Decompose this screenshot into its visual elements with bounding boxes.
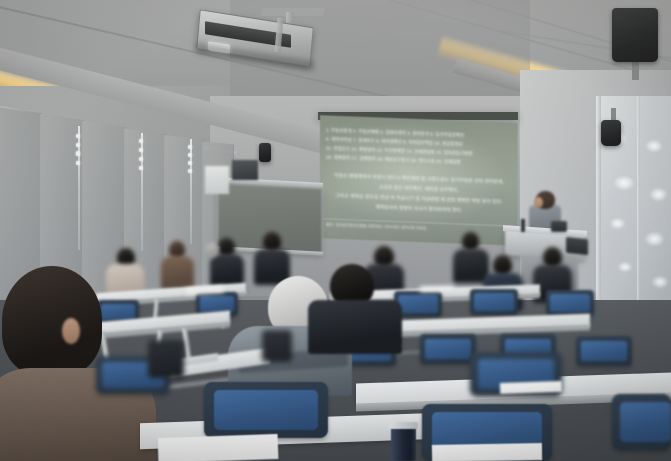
chair-pad [581,341,627,361]
speaker-bracket-mid-right [611,108,616,120]
paper-on-back-desk [420,286,454,293]
projector-mount-plate [260,8,325,16]
blind-bead [188,145,192,149]
blind-bead [76,151,80,155]
chair-pad [550,294,590,312]
bag-under-desk-2 [262,330,292,362]
lectern-microphone [521,219,525,232]
wall-notice-board [205,166,229,194]
chair-pad [398,295,438,313]
lectern-equipment [551,221,567,232]
blind-bead [188,169,192,173]
blind-bead [139,148,143,152]
speaker-rear-right [612,8,658,62]
window-glare [618,262,632,272]
speaker-mid-right [601,120,621,146]
window-glare [652,276,668,288]
blind-bead [76,134,80,138]
chair-pad [474,293,514,311]
attendee-head [206,243,218,257]
blind-bead [188,153,192,157]
attendee-foreground-left-head [2,266,102,376]
lectern-monitor [566,237,588,255]
attendee-torso [161,256,194,290]
blind-bead [188,161,192,165]
attendee-left-ear [62,318,80,344]
blind-bead [76,143,80,147]
chair-foreground-center-pad [214,390,318,430]
tumbler-lid [389,422,418,429]
blind-bead [139,166,143,170]
window-glare [610,218,625,229]
bag-under-desk [148,340,184,378]
speaker-front-left [259,143,271,162]
handout-papers [500,381,562,394]
blind-bead [139,139,143,143]
window-glare [645,232,664,246]
projection-screen: 1. 부동산중개 2. 부동산매매 3. 임대차계약 4. 권리분석 5. 등기… [320,115,518,246]
chair-back-pad [101,304,135,320]
water-tumbler[interactable] [391,424,416,461]
chair-pad [425,339,471,359]
lecture-room-photo: 1. 부동산중개 2. 부동산매매 3. 임대차계약 4. 권리분석 5. 등기… [0,0,671,461]
window-glare [646,140,662,152]
window-glare [650,188,667,201]
handout-papers [432,443,542,461]
wall-control-panel[interactable] [232,160,258,180]
attendee-torso [308,300,402,354]
window-glare [614,176,634,190]
blind-bead [76,161,80,165]
presenter-face [534,197,543,208]
blind-bead [139,157,143,161]
chair-right-edge-pad [620,402,671,442]
handout-papers [158,434,279,461]
